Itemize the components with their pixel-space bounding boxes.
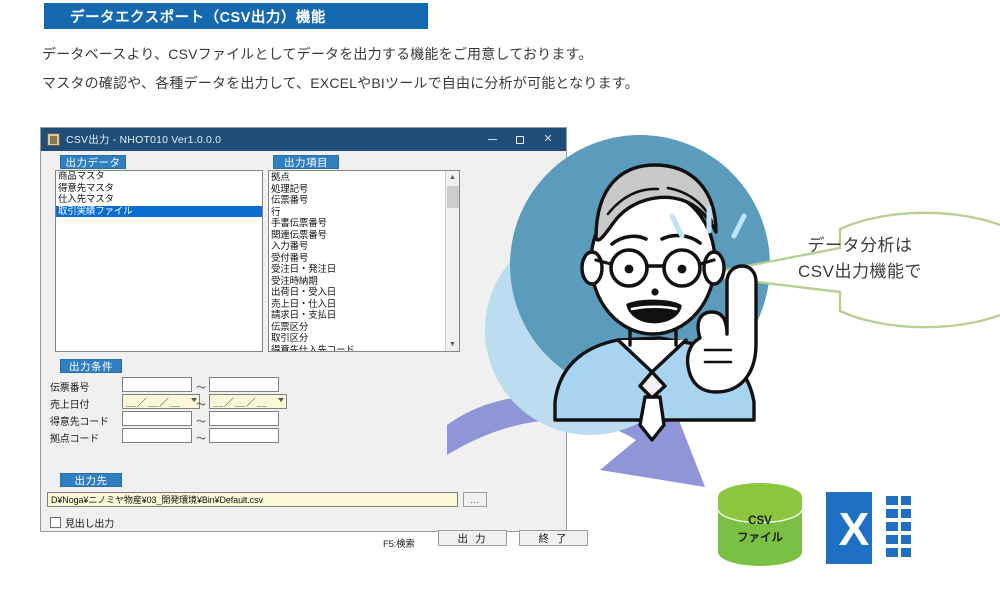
csv-cylinder-label-2: ファイル: [715, 531, 805, 546]
range-separator: ～: [196, 379, 206, 394]
maximize-button[interactable]: [506, 128, 534, 151]
section-banner: データエクスポート（CSV出力）機能: [44, 3, 428, 29]
callout-line-2: CSV出力機能で: [798, 259, 922, 285]
app-icon: [47, 133, 60, 146]
output-field-item[interactable]: 入力番号: [269, 241, 444, 253]
output-data-item[interactable]: 取引実績ファイル: [56, 206, 262, 218]
excel-icon: X: [826, 486, 914, 570]
scrollbar-thumb[interactable]: [447, 186, 459, 208]
browse-button[interactable]: …: [463, 492, 487, 507]
output-field-item[interactable]: 受付番号: [269, 253, 444, 265]
range-separator: ～: [196, 430, 206, 445]
csv-export-window: CSV出力 - NHOT010 Ver1.0.0.0 ✕ 出力データ 商品マスタ…: [40, 127, 567, 532]
condition-from-input[interactable]: [122, 411, 192, 426]
condition-label: 拠点コード: [50, 430, 99, 445]
output-fields-scrollbar[interactable]: ▲ ▼: [445, 171, 459, 351]
output-data-group-title: 出力データ: [60, 155, 126, 169]
exit-button[interactable]: 終 了: [519, 530, 588, 546]
range-separator: ～: [196, 413, 206, 428]
output-field-item[interactable]: 伝票番号: [269, 195, 444, 207]
header-output-checkbox[interactable]: 見出し出力: [50, 515, 114, 530]
businessman-illustration: [555, 165, 756, 440]
output-fields-listbox[interactable]: 拠点処理記号伝票番号行手書伝票番号関連伝票番号入力番号受付番号受注日・発注日受注…: [268, 170, 460, 352]
condition-from-input[interactable]: [122, 428, 192, 443]
output-field-item[interactable]: 売上日・仕入日: [269, 299, 444, 311]
window-titlebar[interactable]: CSV出力 - NHOT010 Ver1.0.0.0 ✕: [41, 128, 566, 151]
output-field-item[interactable]: 行: [269, 207, 444, 219]
scroll-down-icon[interactable]: ▼: [446, 338, 459, 351]
intro-paragraph-2: マスタの確認や、各種データを出力して、EXCELやBIツールで自由に分析が可能と…: [42, 73, 639, 93]
output-field-item[interactable]: 得意先仕入先コード: [269, 345, 444, 353]
scroll-up-icon[interactable]: ▲: [446, 171, 459, 184]
chevron-down-icon[interactable]: [278, 398, 284, 402]
output-field-item[interactable]: 受注時納期: [269, 276, 444, 288]
output-fields-group-title: 出力項目: [273, 155, 339, 169]
checkbox-box[interactable]: [50, 517, 61, 528]
close-button[interactable]: ✕: [534, 128, 562, 151]
intro-paragraph-1: データベースより、CSVファイルとしてデータを出力する機能をご用意しております。: [42, 44, 593, 64]
output-field-item[interactable]: 出荷日・受入日: [269, 287, 444, 299]
window-controls: ✕: [478, 128, 562, 151]
condition-to-input[interactable]: [209, 377, 279, 392]
conditions-group-title: 出力条件: [60, 359, 122, 373]
output-field-item[interactable]: 処理記号: [269, 184, 444, 196]
section-banner-title: データエクスポート（CSV出力）機能: [44, 6, 326, 27]
csv-cylinder-label-1: CSV: [715, 514, 805, 529]
output-path-input[interactable]: D¥Noga¥ニノミヤ物産¥03_開発環境¥Bin¥Default.csv: [47, 492, 458, 507]
header-output-label: 見出し出力: [65, 515, 114, 530]
condition-from-input[interactable]: [122, 377, 192, 392]
output-field-item[interactable]: 受注日・発注日: [269, 264, 444, 276]
sparkle-icon: [672, 208, 744, 236]
callout-line-1: データ分析は: [808, 233, 913, 259]
output-field-item[interactable]: 手書伝票番号: [269, 218, 444, 230]
output-field-item[interactable]: 請求日・支払日: [269, 310, 444, 322]
condition-label: 得意先コード: [50, 413, 109, 428]
output-data-item[interactable]: 得意先マスタ: [56, 183, 262, 195]
destination-group-title: 出力先: [60, 473, 122, 487]
output-data-item[interactable]: 商品マスタ: [56, 171, 262, 183]
condition-from-input[interactable]: ＿／＿／＿: [122, 394, 200, 409]
svg-text:X: X: [839, 503, 870, 555]
output-data-listbox[interactable]: 商品マスタ得意先マスタ仕入先マスタ取引実績ファイル: [55, 170, 263, 352]
condition-from-value: ＿／＿／＿: [123, 394, 181, 409]
window-client-area: 出力データ 商品マスタ得意先マスタ仕入先マスタ取引実績ファイル 出力項目 拠点処…: [41, 151, 566, 531]
export-button[interactable]: 出 力: [438, 530, 507, 546]
condition-to-input[interactable]: [209, 411, 279, 426]
window-title: CSV出力 - NHOT010 Ver1.0.0.0: [66, 132, 221, 147]
output-field-item[interactable]: 拠点: [269, 172, 444, 184]
output-data-item[interactable]: 仕入先マスタ: [56, 194, 262, 206]
output-path-value: D¥Noga¥ニノミヤ物産¥03_開発環境¥Bin¥Default.csv: [48, 493, 263, 506]
condition-to-value: ＿／＿／＿: [210, 394, 268, 409]
output-field-item[interactable]: 取引区分: [269, 333, 444, 345]
condition-label: 伝票番号: [50, 379, 89, 394]
f5-hint: F5:検索: [383, 536, 415, 550]
condition-to-input[interactable]: ＿／＿／＿: [209, 394, 287, 409]
condition-to-input[interactable]: [209, 428, 279, 443]
condition-label: 売上日付: [50, 396, 89, 411]
close-icon: ✕: [543, 134, 552, 145]
range-separator: ～: [196, 396, 206, 411]
output-field-item[interactable]: 伝票区分: [269, 322, 444, 334]
minimize-button[interactable]: [478, 128, 506, 151]
output-field-item[interactable]: 関連伝票番号: [269, 230, 444, 242]
